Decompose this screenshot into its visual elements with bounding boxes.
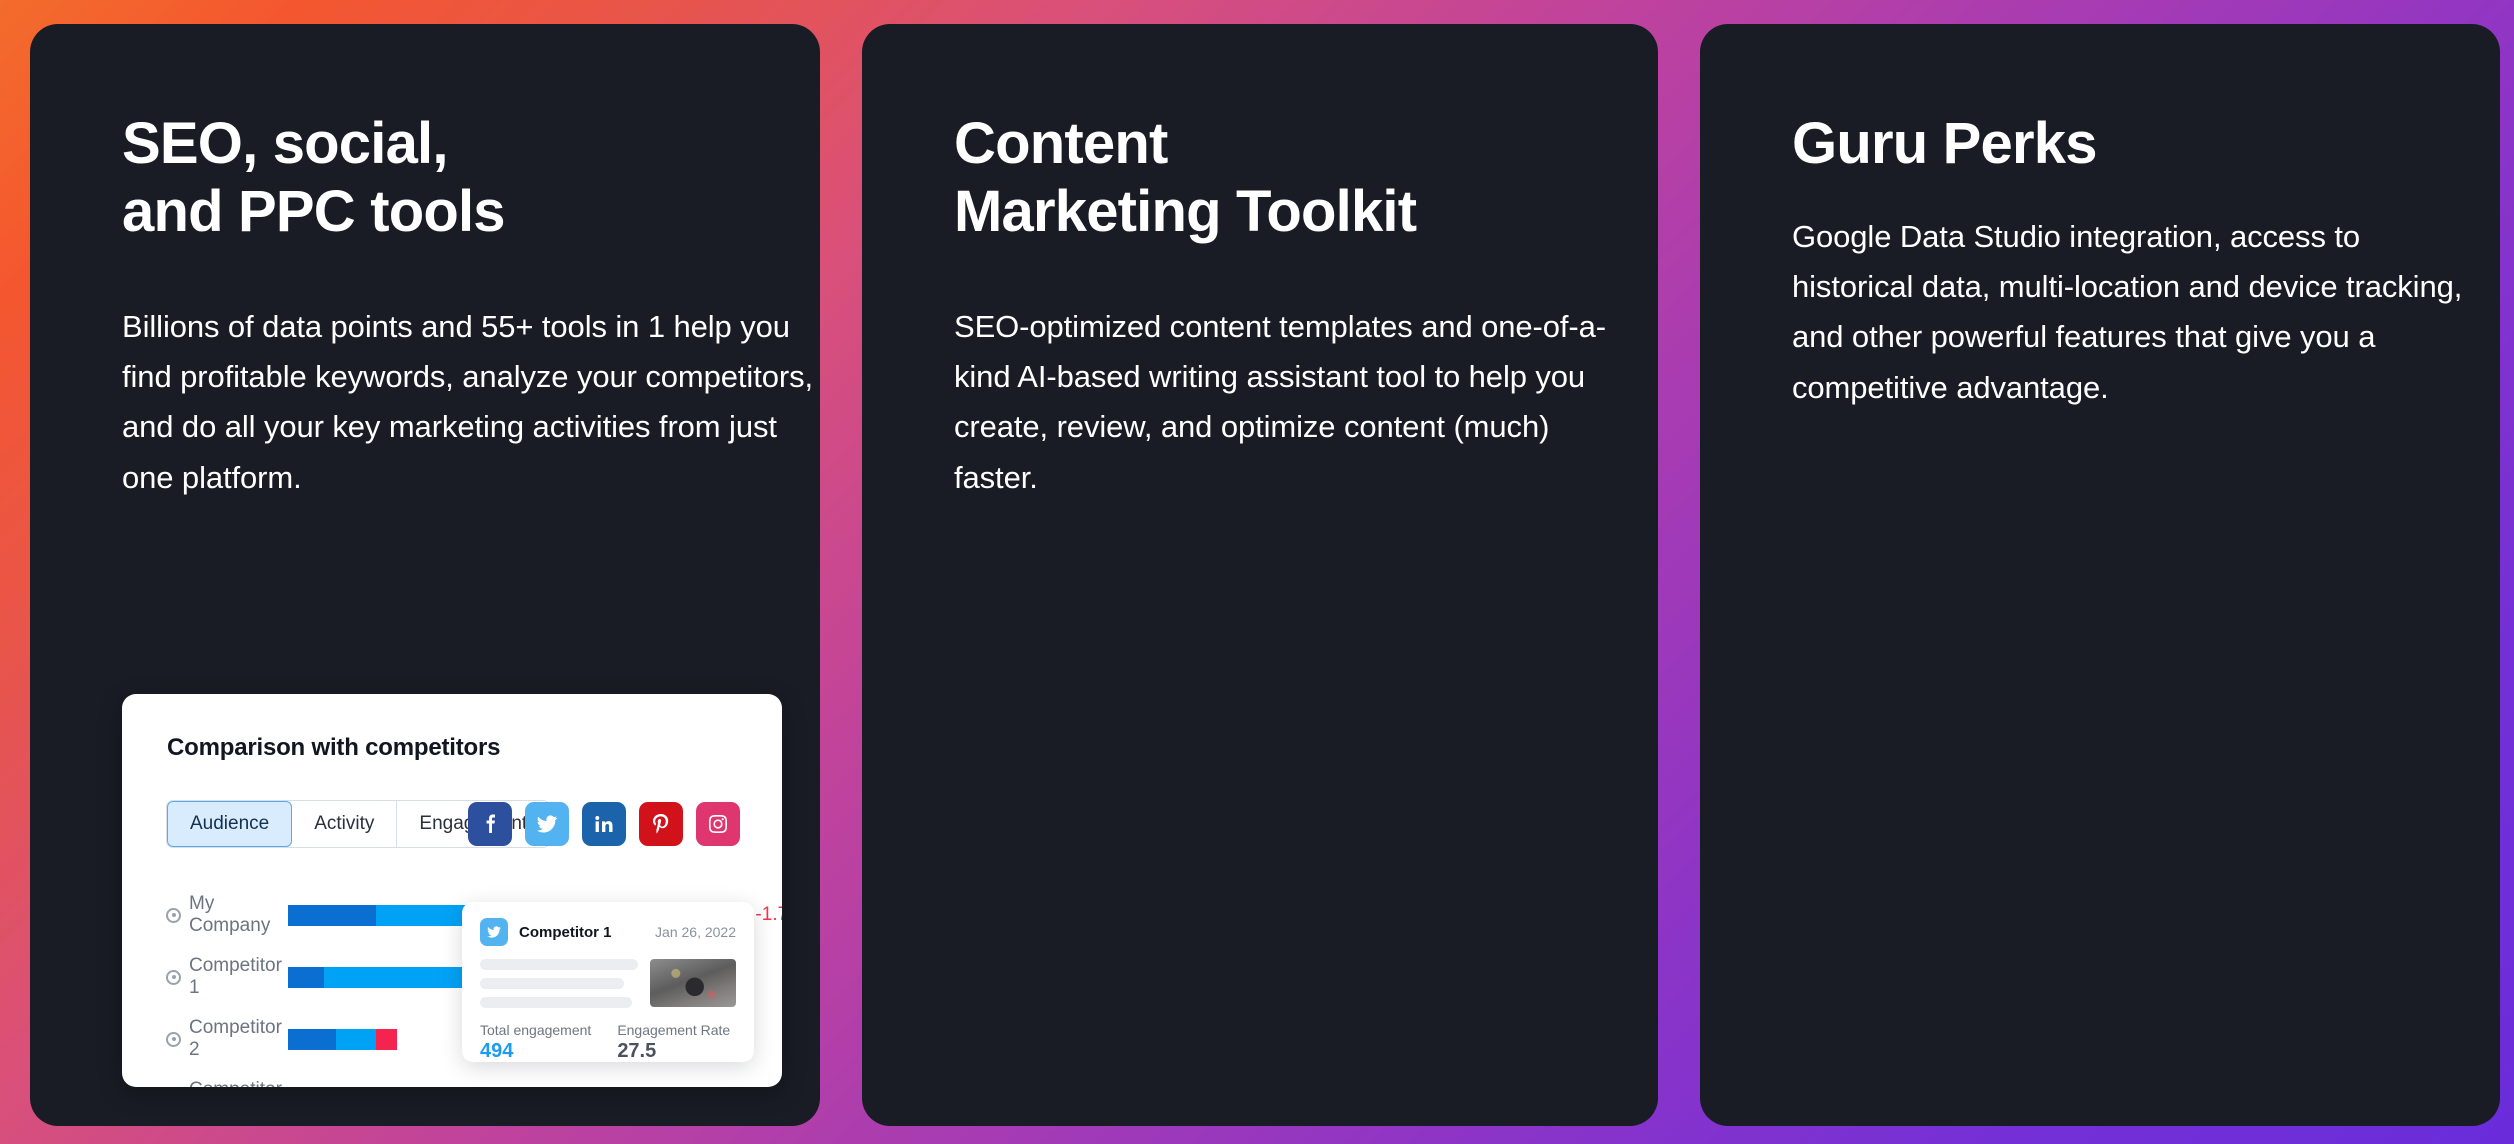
twitter-icon [480,918,508,946]
table-row[interactable]: Competitor 3 [166,1070,746,1087]
card-title: SEO, social, and PPC tools [122,110,505,247]
popup-title: Competitor 1 [519,924,612,941]
comparison-widget: Comparison with competitors Audience Act… [122,694,782,1087]
row-delta: -1.7 [755,904,782,926]
row-label: Competitor 1 [189,955,288,999]
widget-title: Comparison with competitors [167,734,500,762]
linkedin-icon[interactable] [582,802,626,846]
placeholder-text-lines [480,959,638,1008]
row-label: Competitor 2 [189,1017,288,1061]
twitter-icon[interactable] [525,802,569,846]
tab-activity[interactable]: Activity [292,801,397,847]
card-body: SEO-optimized content templates and one-… [954,302,1634,503]
instagram-icon[interactable] [696,802,740,846]
tab-audience[interactable]: Audience [167,801,292,847]
row-label: Competitor 3 [189,1079,288,1087]
target-icon [166,908,181,923]
card-title: Content Marketing Toolkit [954,110,1416,247]
page-root: SEO, social, and PPC tools Billions of d… [0,0,2514,1144]
competitor-detail-popup: Competitor 1 Jan 26, 2022 Total engageme… [462,902,754,1062]
feature-card-seo: SEO, social, and PPC tools Billions of d… [30,24,820,1126]
card-title: Guru Perks [1792,110,2097,178]
target-icon [166,970,181,985]
stat-total-engagement: Total engagement 494 [480,1022,591,1063]
feature-card-guru-perks: Guru Perks Google Data Studio integratio… [1700,24,2500,1126]
card-body: Billions of data points and 55+ tools in… [122,302,820,503]
post-thumbnail [650,959,736,1007]
card-body: Google Data Studio integration, access t… [1792,212,2472,413]
popup-date: Jan 26, 2022 [655,924,736,940]
facebook-icon[interactable] [468,802,512,846]
pinterest-icon[interactable] [639,802,683,846]
target-icon [166,1032,181,1047]
feature-card-content: Content Marketing Toolkit SEO-optimized … [862,24,1658,1126]
bar-track [288,1029,397,1050]
row-label: My Company [189,893,288,937]
social-network-filter [468,802,740,846]
stat-engagement-rate: Engagement Rate 27.5 [617,1022,730,1063]
